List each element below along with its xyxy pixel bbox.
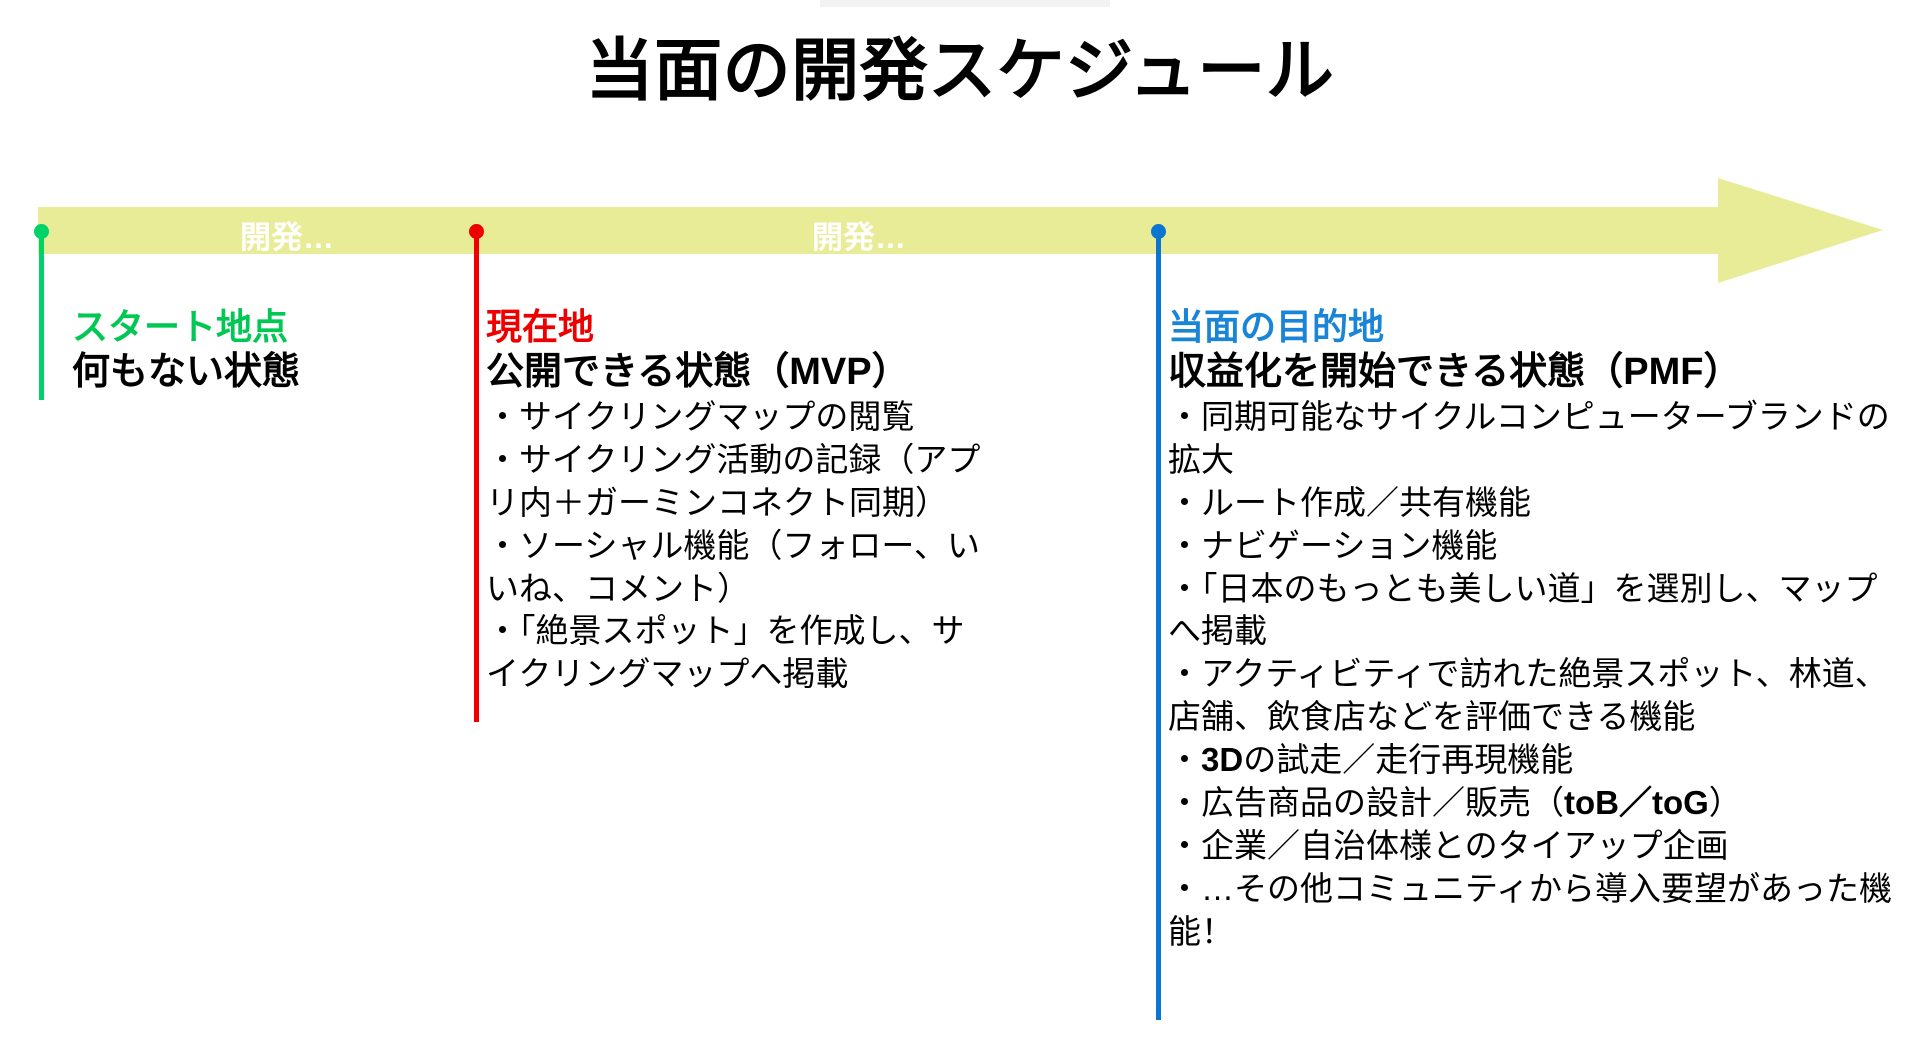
page-title: 当面の開発スケジュール — [0, 34, 1920, 109]
list-item: ・同期可能なサイクルコンピューターブランドの拡大 — [1168, 396, 1896, 482]
list-item: ・3Dの試走／走行再現機能 — [1168, 739, 1896, 782]
list-item: ・「日本のもっとも美しい道」を選別し、マップへ掲載 — [1168, 568, 1896, 654]
milestone-heading-goal: 当面の目的地 — [1168, 305, 1896, 349]
timeline-label-2: 開発… — [812, 212, 907, 257]
milestone-subtitle-goal: 収益化を開始できる状態（PMF） — [1168, 349, 1896, 396]
milestone-block-start: スタート地点 何もない状態 — [72, 305, 452, 396]
milestone-block-goal: 当面の目的地 収益化を開始できる状態（PMF） ・同期可能なサイクルコンピュータ… — [1154, 305, 1896, 954]
marker-dot-current — [469, 224, 484, 239]
list-item: ・ソーシャル機能（フォロー、いいね、コメント） — [486, 525, 992, 611]
list-item: ・…その他コミュニティから導入要望があった機能！ — [1168, 868, 1896, 954]
list-item: ・アクティビティで訪れた絶景スポット、林道、店舗、飲食店などを評価できる機能 — [1168, 653, 1896, 739]
milestone-bullets-goal: ・同期可能なサイクルコンピューターブランドの拡大・ルート作成／共有機能・ナビゲー… — [1168, 396, 1896, 954]
marker-dot-goal — [1151, 224, 1166, 239]
list-item: ・企業／自治体様とのタイアップ企画 — [1168, 825, 1896, 868]
milestone-subtitle-current: 公開できる状態（MVP） — [486, 349, 992, 396]
timeline-label-1: 開発… — [240, 212, 335, 257]
list-item: ・ナビゲーション機能 — [1168, 525, 1896, 568]
list-item: ・ルート作成／共有機能 — [1168, 482, 1896, 525]
list-item: ・サイクリングマップの閲覧 — [486, 396, 992, 439]
list-item: ・「絶景スポット」を作成し、サイクリングマップへ掲載 — [486, 610, 992, 696]
marker-dot-start — [34, 224, 49, 239]
top-edge-strip — [820, 0, 1110, 7]
timeline-arrow-icon — [38, 178, 1883, 283]
list-item: ・サイクリング活動の記録（アプリ内＋ガーミンコネクト同期） — [486, 439, 992, 525]
milestone-block-current: 現在地 公開できる状態（MVP） ・サイクリングマップの閲覧・サイクリング活動の… — [472, 305, 992, 696]
marker-stem-start — [39, 232, 44, 400]
list-item: ・広告商品の設計／販売（toB／toG） — [1168, 782, 1896, 825]
milestone-bullets-current: ・サイクリングマップの閲覧・サイクリング活動の記録（アプリ内＋ガーミンコネクト同… — [486, 396, 992, 696]
milestone-heading-start: スタート地点 — [72, 305, 452, 349]
milestone-subtitle-start: 何もない状態 — [72, 349, 452, 396]
milestone-heading-current: 現在地 — [486, 305, 992, 349]
